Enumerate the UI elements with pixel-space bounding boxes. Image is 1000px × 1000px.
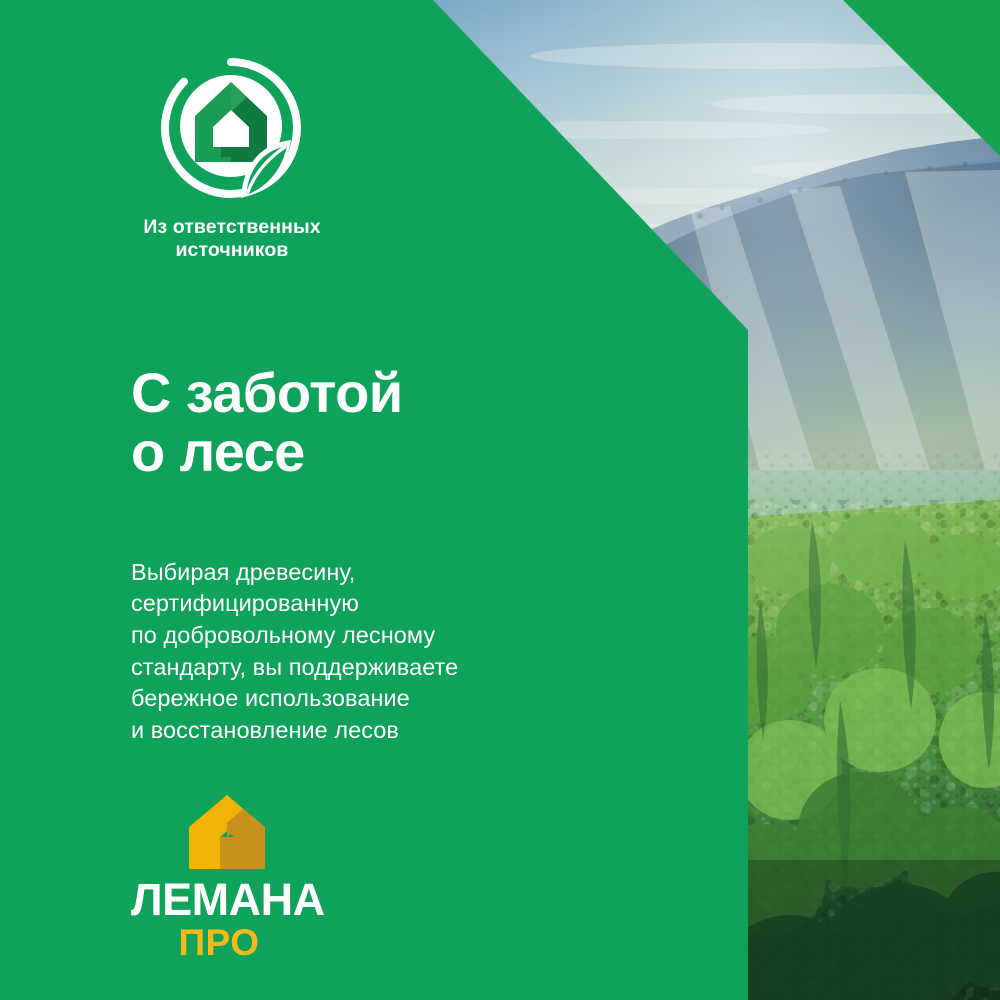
lemana-house-icon <box>179 793 275 871</box>
house-leaf-circle-emblem <box>159 58 303 204</box>
certification-caption: Из ответственных источников <box>126 216 338 262</box>
poster-content: Из ответственных источников С заботой о … <box>0 0 748 1000</box>
page-title: С заботой о лесе <box>131 363 403 483</box>
brand-logo: ЛЕМАНА ПРО <box>131 793 331 961</box>
brand-subtitle: ПРО <box>131 924 307 961</box>
certification-emblem-block: Из ответственных источников <box>126 58 346 262</box>
brand-name: ЛЕМАНА <box>131 877 307 922</box>
body-copy: Выбирая древесину, сертифицированную по … <box>131 557 458 747</box>
poster-canvas: Из ответственных источников С заботой о … <box>0 0 1000 1000</box>
